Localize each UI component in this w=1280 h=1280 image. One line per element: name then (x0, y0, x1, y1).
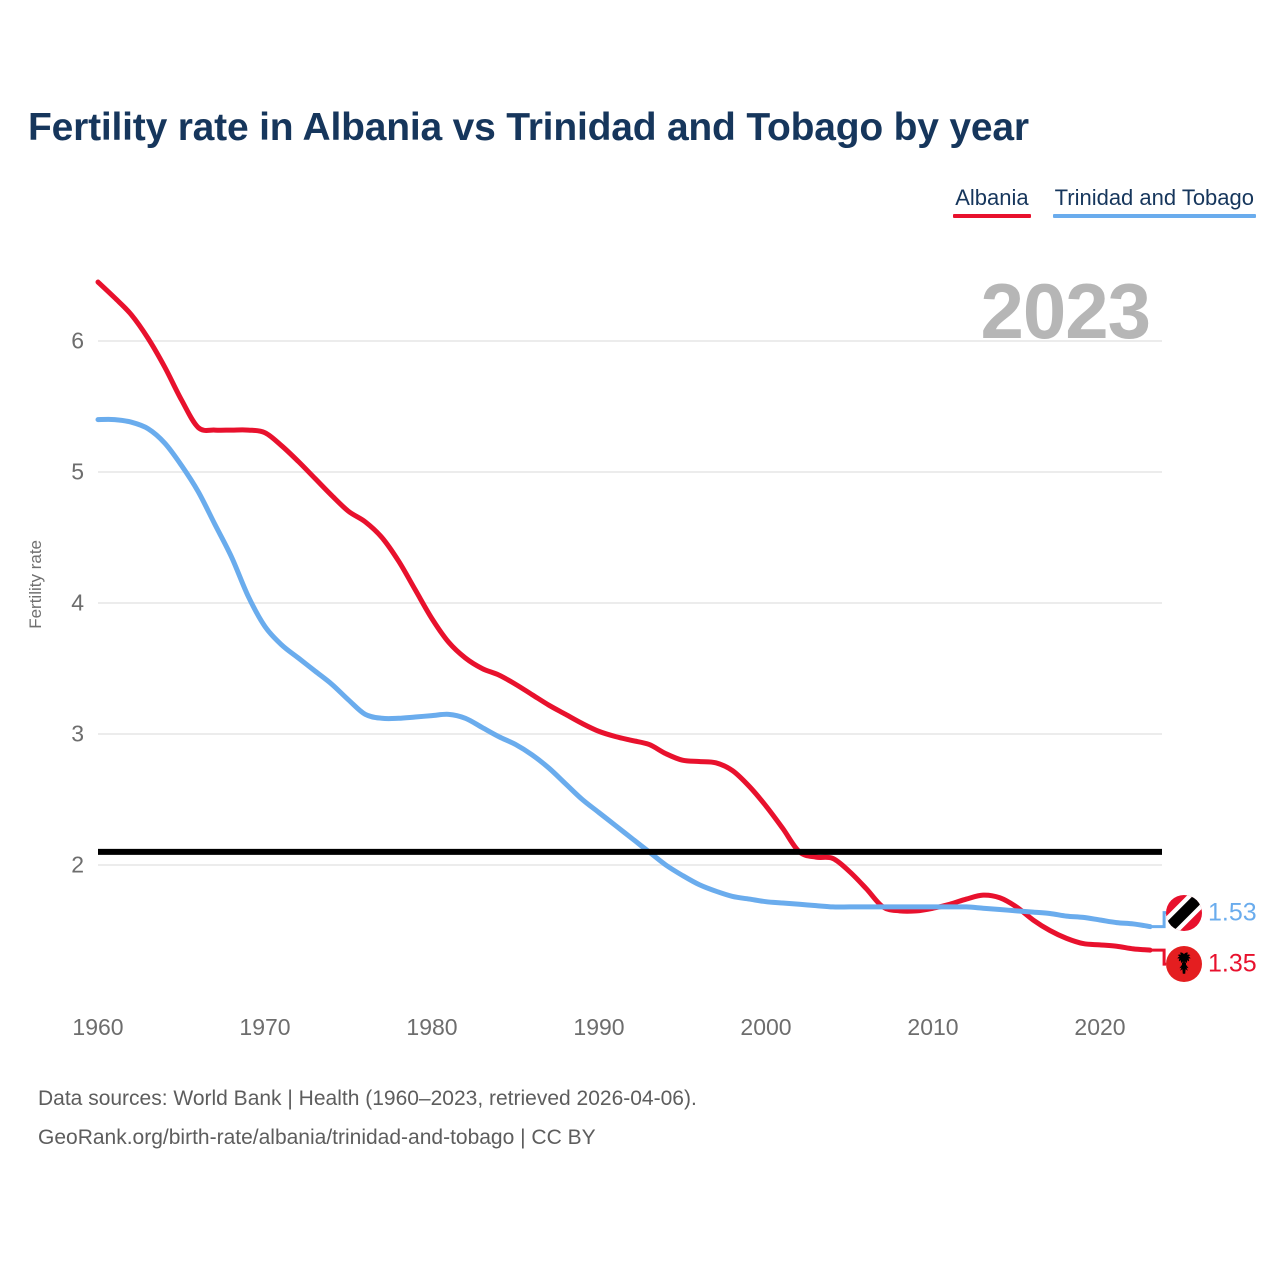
y-tick-2: 2 (44, 852, 84, 879)
x-tick-1990: 1990 (554, 1014, 644, 1041)
x-tick-2010: 2010 (888, 1014, 978, 1041)
end-value-trinidad-and-tobago: 1.53 (1208, 898, 1257, 927)
footer-data-sources: Data sources: World Bank | Health (1960–… (38, 1087, 697, 1111)
y-tick-3: 3 (44, 721, 84, 748)
x-tick-2020: 2020 (1055, 1014, 1145, 1041)
footer-attribution: GeoRank.org/birth-rate/albania/trinidad-… (38, 1126, 596, 1150)
x-tick-2000: 2000 (721, 1014, 811, 1041)
albania-flag-icon (1166, 946, 1202, 982)
chart-container: Fertility rate in Albania vs Trinidad an… (0, 0, 1280, 1280)
x-tick-1970: 1970 (220, 1014, 310, 1041)
x-tick-1960: 1960 (53, 1014, 143, 1041)
end-value-albania: 1.35 (1208, 950, 1257, 979)
y-tick-6: 6 (44, 328, 84, 355)
y-tick-5: 5 (44, 459, 84, 486)
trinidad-and-tobago-flag-icon (1166, 895, 1202, 931)
y-tick-4: 4 (44, 590, 84, 617)
x-tick-1980: 1980 (387, 1014, 477, 1041)
